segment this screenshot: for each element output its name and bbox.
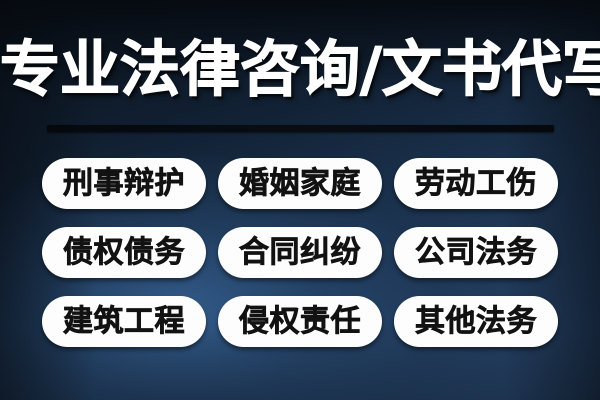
title-divider bbox=[47, 125, 554, 132]
service-pill-label: 婚姻家庭 bbox=[239, 169, 361, 199]
service-pill-label: 侵权责任 bbox=[239, 307, 361, 337]
service-pill-labor-injury[interactable]: 劳动工伤 bbox=[394, 158, 558, 209]
service-pill-contract-dispute[interactable]: 合同纠纷 bbox=[218, 227, 382, 278]
service-pill-label: 债权债务 bbox=[63, 238, 185, 268]
service-pill-tort-liability[interactable]: 侵权责任 bbox=[218, 296, 382, 347]
poster-title: 专业法律咨询/文书代写 bbox=[0, 33, 600, 107]
service-pill-construction-engineering[interactable]: 建筑工程 bbox=[42, 296, 206, 347]
service-pill-other-legal[interactable]: 其他法务 bbox=[394, 296, 558, 347]
service-pill-criminal-defense[interactable]: 刑事辩护 bbox=[42, 158, 206, 209]
service-pill-label: 合同纠纷 bbox=[239, 238, 361, 268]
service-pill-grid: 刑事辩护 婚姻家庭 劳动工伤 债权债务 合同纠纷 公司法务 建筑工程 侵权责任 … bbox=[42, 158, 558, 347]
service-pill-label: 劳动工伤 bbox=[415, 169, 537, 199]
service-pill-label: 刑事辩护 bbox=[63, 169, 185, 199]
service-pill-marriage-family[interactable]: 婚姻家庭 bbox=[218, 158, 382, 209]
service-pill-label: 其他法务 bbox=[415, 307, 537, 337]
service-pill-label: 公司法务 bbox=[415, 238, 537, 268]
service-pill-label: 建筑工程 bbox=[63, 307, 185, 337]
promo-poster: 专业法律咨询/文书代写 刑事辩护 婚姻家庭 劳动工伤 债权债务 合同纠纷 公司法… bbox=[0, 0, 600, 400]
service-pill-corporate-legal[interactable]: 公司法务 bbox=[394, 227, 558, 278]
service-pill-creditor-debt[interactable]: 债权债务 bbox=[42, 227, 206, 278]
